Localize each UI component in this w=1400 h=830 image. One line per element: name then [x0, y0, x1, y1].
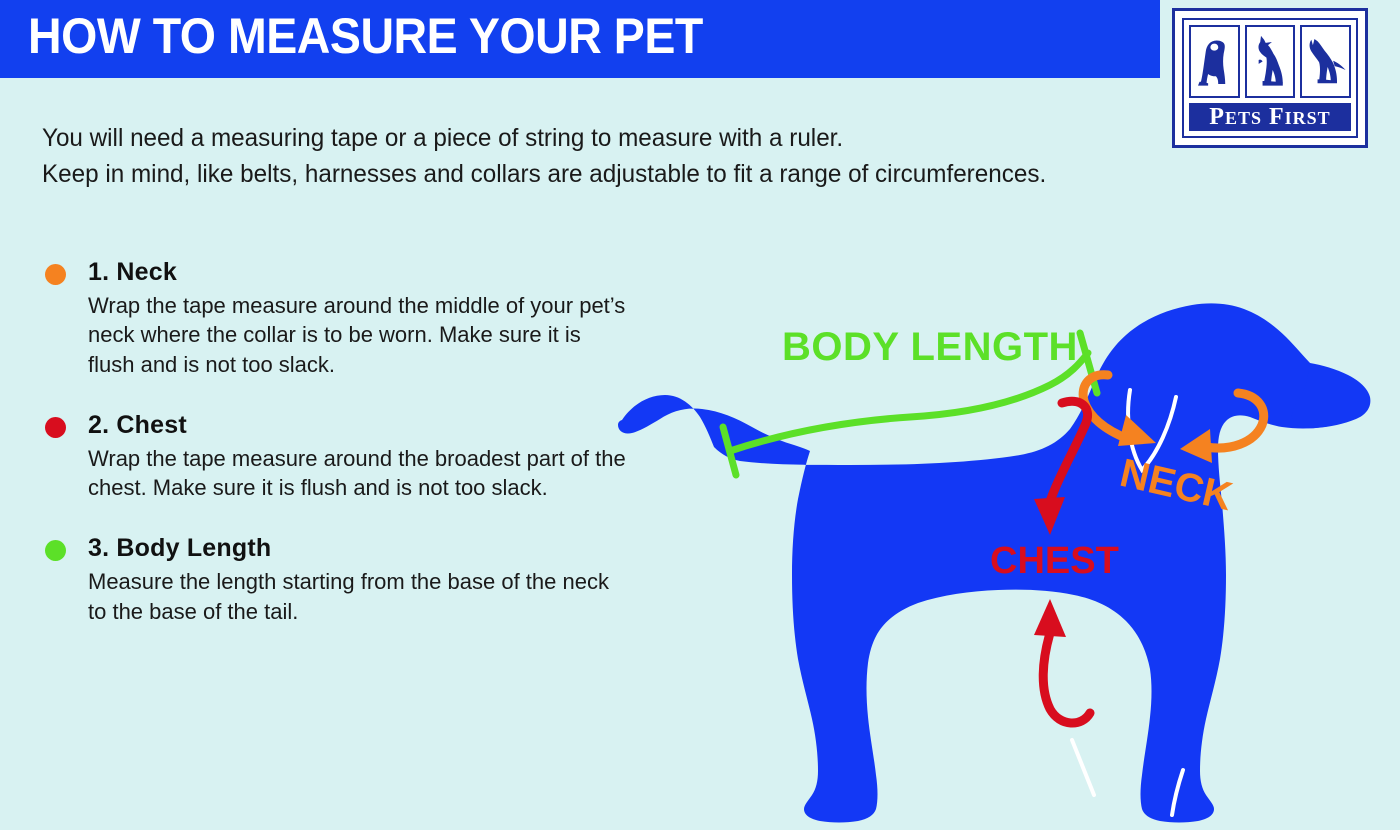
- step-body-body-length: Measure the length starting from the bas…: [88, 567, 628, 626]
- intro-text: You will need a measuring tape or a piec…: [42, 120, 1119, 193]
- step-body-neck: Wrap the tape measure around the middle …: [88, 291, 628, 379]
- infographic-page: HOW TO MEASURE YOUR PET: [0, 0, 1400, 830]
- measurement-steps-list: 1. Neck Wrap the tape measure around the…: [40, 258, 640, 658]
- alert-dog-silhouette-icon: [1300, 25, 1351, 98]
- chest-arrowhead-up: [1034, 599, 1066, 637]
- list-item: 2. Chest Wrap the tape measure around th…: [40, 411, 640, 503]
- page-title: HOW TO MEASURE YOUR PET: [28, 7, 703, 65]
- step-title-body-length: 3. Body Length: [88, 534, 640, 563]
- body-length-label: BODY LENGTH: [782, 325, 1078, 369]
- sitting-dog-silhouette-icon: [1189, 25, 1240, 98]
- logo-wordmark-box: PETS FIRST: [1189, 103, 1351, 131]
- chest-label: CHEST: [990, 540, 1119, 582]
- logo-inner-frame: PETS FIRST: [1182, 18, 1358, 138]
- list-item: 1. Neck Wrap the tape measure around the…: [40, 258, 640, 379]
- step-bullet-body-length: [45, 540, 66, 561]
- step-bullet-chest: [45, 417, 66, 438]
- step-title-neck: 1. Neck: [88, 258, 640, 287]
- intro-line-2: Keep in mind, like belts, harnesses and …: [42, 156, 1119, 192]
- logo-dog-panels: [1189, 25, 1351, 98]
- rear-leg-detail-line: [1072, 740, 1094, 795]
- dog-measurement-diagram: BODY LENGTH NECK CHEST: [610, 215, 1400, 830]
- step-body-chest: Wrap the tape measure around the broades…: [88, 444, 628, 503]
- list-item: 3. Body Length Measure the length starti…: [40, 534, 640, 626]
- step-title-chest: 2. Chest: [88, 411, 640, 440]
- chest-arrow-lower-curve: [1043, 633, 1090, 723]
- logo-wordmark: PETS FIRST: [1209, 105, 1330, 129]
- howling-dog-silhouette-icon: [1245, 25, 1296, 98]
- step-bullet-neck: [45, 264, 66, 285]
- brand-logo: PETS FIRST: [1172, 8, 1368, 148]
- intro-line-1: You will need a measuring tape or a piec…: [42, 120, 1119, 156]
